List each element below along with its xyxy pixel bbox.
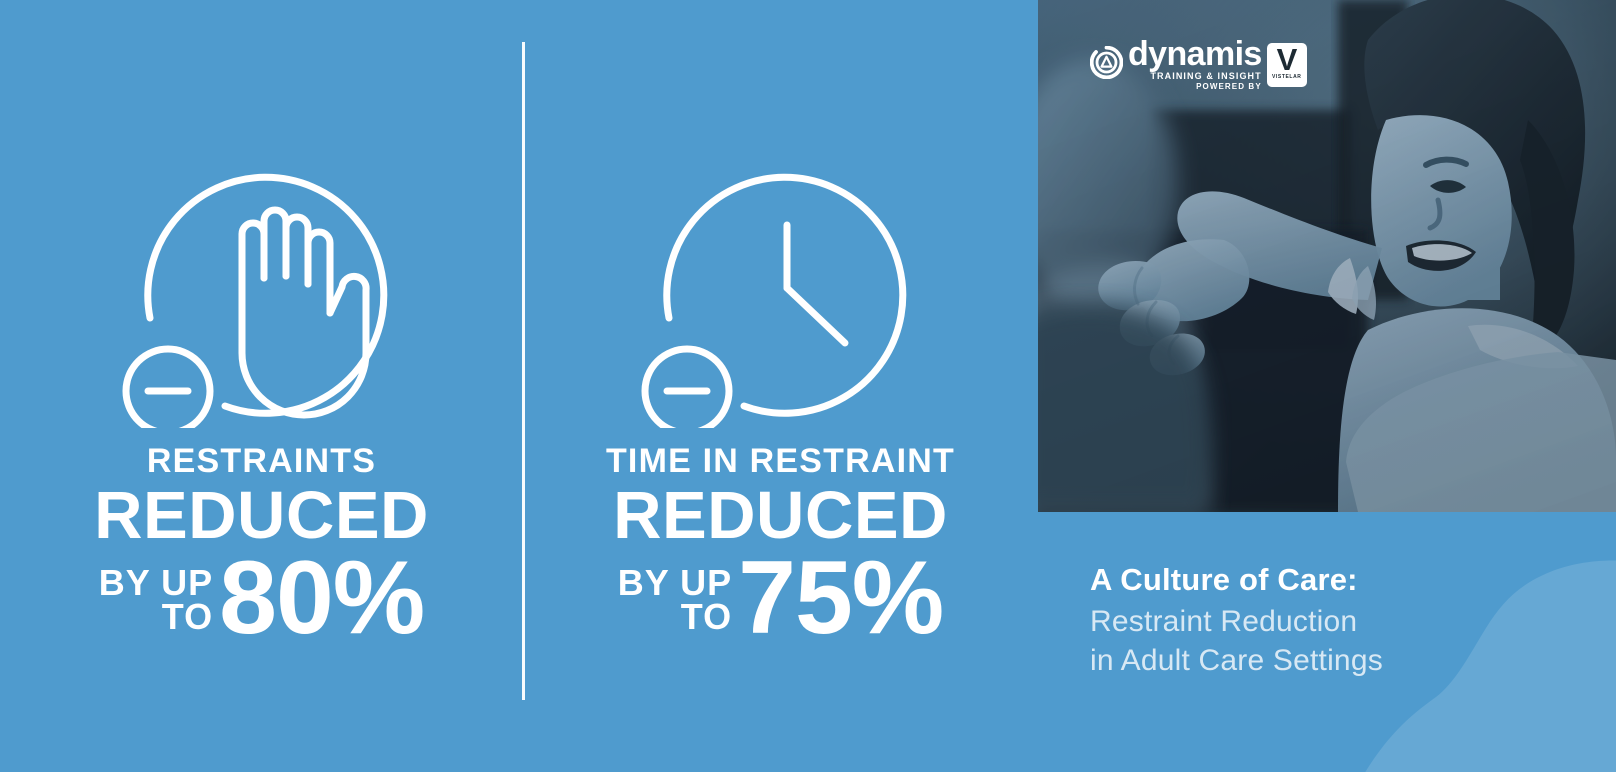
hand-stop-reduce-icon [112,138,412,428]
dynamis-logo-lockup[interactable]: dynamis TRAINING & INSIGHT POWERED BY V … [1090,40,1307,92]
care-worker-photo: dynamis TRAINING & INSIGHT POWERED BY V … [1038,0,1616,512]
caption-title: A Culture of Care: [1090,562,1590,598]
dynamis-circle-triangle-mark-icon [1090,46,1123,79]
promo-banner: RESTRAINTS REDUCED BY UP TO 80% [0,0,1616,772]
caption-subtitle: Restraint Reduction in Adult Care Settin… [1090,602,1590,680]
stats-area: RESTRAINTS REDUCED BY UP TO 80% [0,0,1038,772]
logo-name: dynamis [1128,40,1262,70]
stat-block-restraints: RESTRAINTS REDUCED BY UP TO 80% [0,0,523,772]
logo-powered-by: POWERED BY [1196,82,1262,92]
stat-byup: BY UP TO [99,566,213,644]
stat-value: 75% [738,554,943,643]
caption-subtitle-line-2: in Adult Care Settings [1090,641,1590,680]
stat-byup-line1: BY UP [618,566,732,600]
stat-value: 80% [219,554,424,643]
caption-block: A Culture of Care: Restraint Reduction i… [1090,562,1590,680]
stat-kicker: TIME IN RESTRAINT [523,444,1038,480]
stat-byup: BY UP TO [618,566,732,644]
clock-time-reduce-icon [631,138,931,428]
stat-block-time-in-restraint: TIME IN RESTRAINT REDUCED BY UP TO 75% [523,0,1038,772]
stat-kicker: RESTRAINTS [0,444,523,480]
vistelar-badge[interactable]: V VISTELAR [1267,43,1307,87]
vistelar-name: VISTELAR [1272,75,1302,80]
vistelar-letter: V [1277,44,1297,76]
stat-byup-line1: BY UP [99,566,213,600]
logo-tagline: TRAINING & INSIGHT [1150,71,1261,82]
stat-byup-line2: TO [681,600,732,634]
dynamis-wordmark: dynamis TRAINING & INSIGHT POWERED BY [1128,40,1262,92]
right-panel: dynamis TRAINING & INSIGHT POWERED BY V … [1038,0,1616,772]
stat-text-time-in-restraint: TIME IN RESTRAINT REDUCED BY UP TO 75% [523,444,1038,643]
stat-byup-line2: TO [162,600,213,634]
caption-subtitle-line-1: Restraint Reduction [1090,602,1590,641]
vertical-divider [522,42,525,700]
stat-text-restraints: RESTRAINTS REDUCED BY UP TO 80% [0,444,523,643]
stat-bottom: BY UP TO 80% [0,554,523,643]
stat-bottom: BY UP TO 75% [523,554,1038,643]
